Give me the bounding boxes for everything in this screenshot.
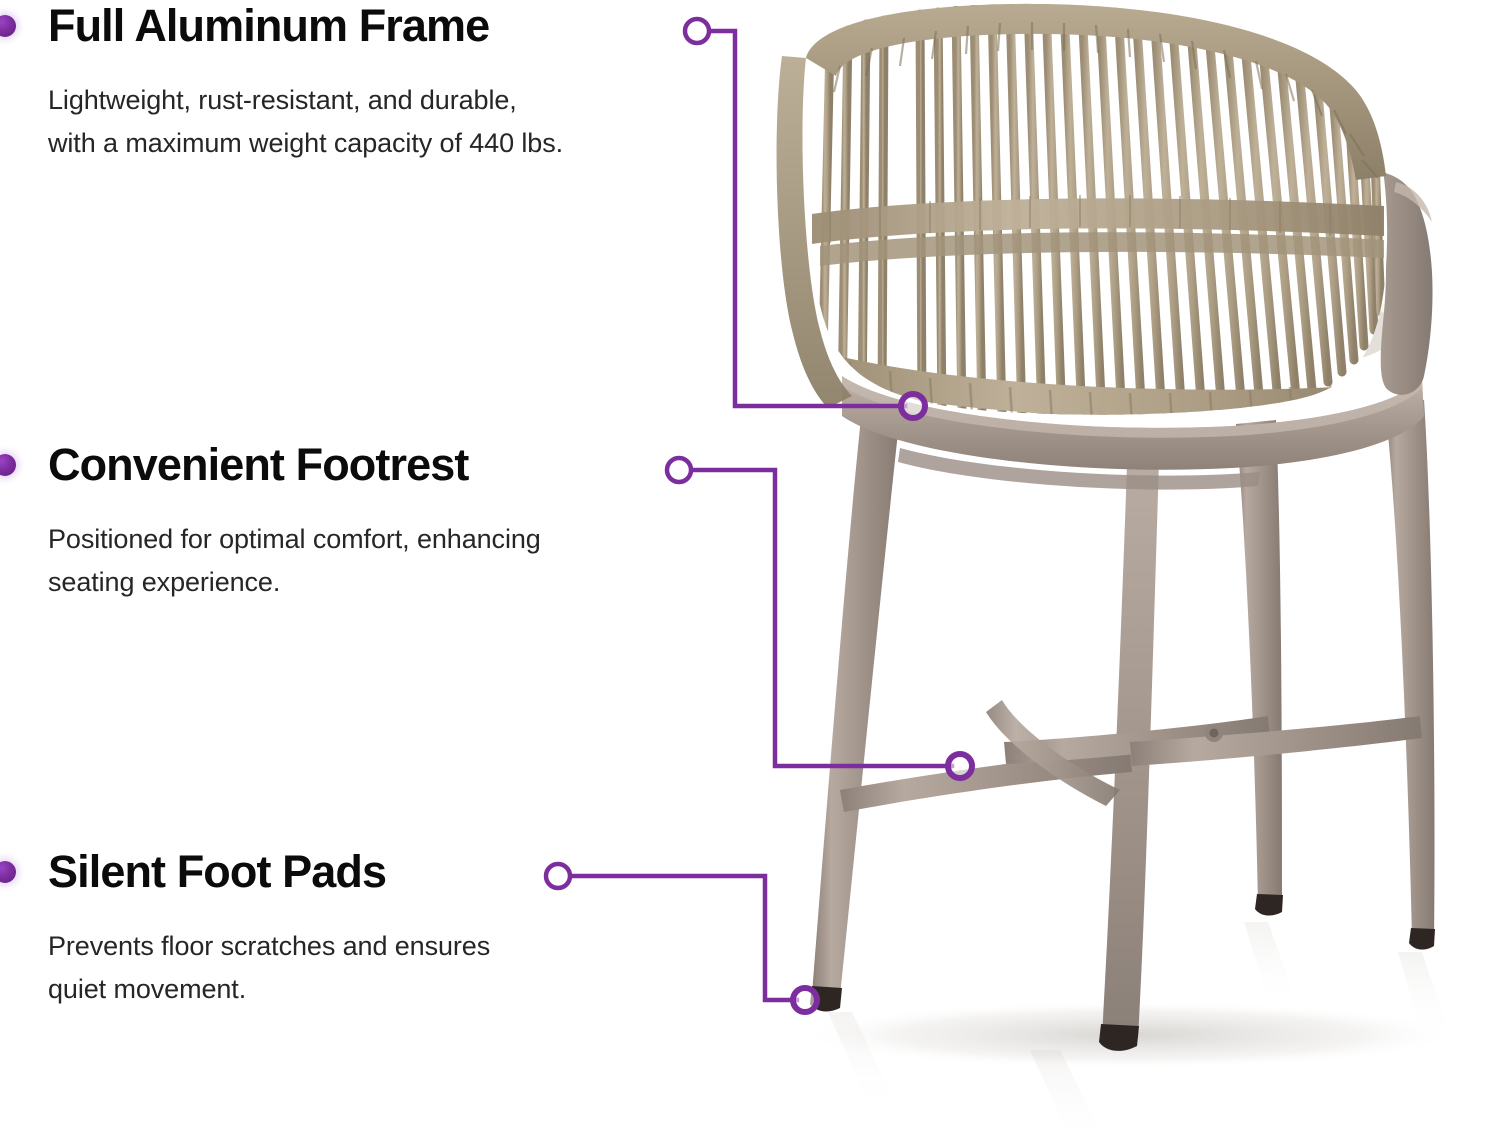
bullet-dot-icon xyxy=(0,861,16,883)
front-left-leg xyxy=(812,408,900,996)
callout-heading: Convenient Footrest xyxy=(0,441,680,489)
callout-body-line: seating experience. xyxy=(48,561,680,605)
callout-body-line: quiet movement. xyxy=(48,968,680,1012)
callout-body: Positioned for optimal comfort, enhancin… xyxy=(0,518,680,605)
callout-convenient-footrest: Convenient Footrest Positioned for optim… xyxy=(0,441,680,605)
callout-body: Lightweight, rust-resistant, and durable… xyxy=(0,79,680,166)
callout-body-line: Prevents floor scratches and ensures xyxy=(48,925,680,969)
callout-body-line: Positioned for optimal comfort, enhancin… xyxy=(48,518,680,562)
callout-body-line: with a maximum weight capacity of 440 lb… xyxy=(48,122,680,166)
bullet-dot-icon xyxy=(0,454,16,476)
chair-legs xyxy=(812,400,1435,1038)
rope-woven-backrest xyxy=(777,0,1410,430)
infographic-canvas: Full Aluminum Frame Lightweight, rust-re… xyxy=(0,0,1500,1148)
callout-body-line: Lightweight, rust-resistant, and durable… xyxy=(48,79,680,123)
callout-full-aluminum-frame: Full Aluminum Frame Lightweight, rust-re… xyxy=(0,2,680,166)
bullet-dot-icon xyxy=(0,15,16,37)
callout-heading: Silent Foot Pads xyxy=(0,848,680,896)
callout-heading: Full Aluminum Frame xyxy=(0,2,680,50)
callout-heading-text: Silent Foot Pads xyxy=(48,846,386,897)
far-right-leg xyxy=(1385,400,1435,940)
callout-body: Prevents floor scratches and ensures qui… xyxy=(0,925,680,1012)
callout-silent-foot-pads: Silent Foot Pads Prevents floor scratche… xyxy=(0,848,680,1012)
back-right-leg xyxy=(1236,420,1282,906)
callout-heading-text: Convenient Footrest xyxy=(48,439,468,490)
callout-heading-text: Full Aluminum Frame xyxy=(48,0,489,51)
